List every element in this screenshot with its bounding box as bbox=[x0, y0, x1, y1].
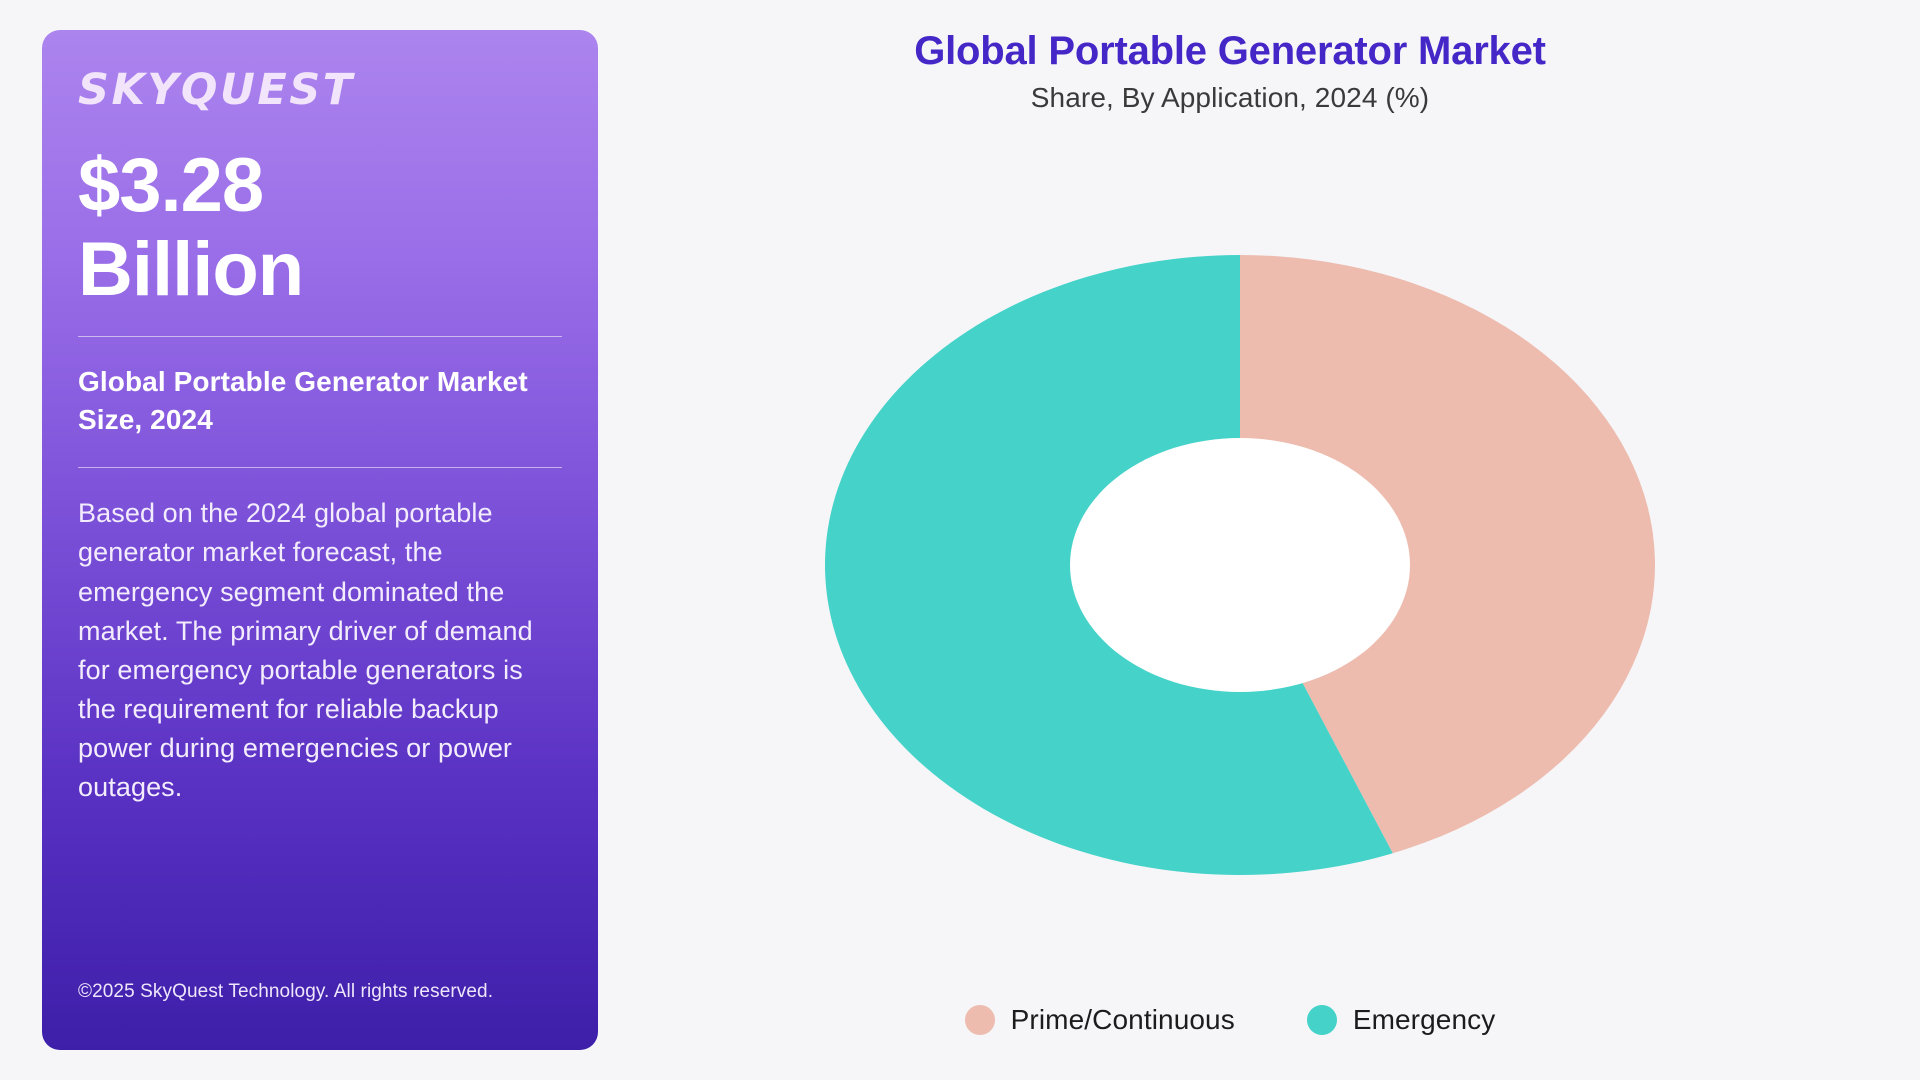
card-subtitle: Global Portable Generator Market Size, 2… bbox=[78, 363, 564, 439]
donut-chart bbox=[825, 255, 1655, 875]
copyright-notice: ©2025 SkyQuest Technology. All rights re… bbox=[78, 978, 498, 1006]
donut-chart-svg bbox=[825, 255, 1655, 875]
legend-item-emergency[interactable]: Emergency bbox=[1307, 1004, 1496, 1036]
chart-panel: Global Portable Generator Market Share, … bbox=[640, 0, 1920, 1080]
divider-bottom bbox=[78, 467, 562, 468]
legend-item-prime-continuous[interactable]: Prime/Continuous bbox=[965, 1004, 1235, 1036]
skyquest-logo: SKYQUEST bbox=[78, 68, 564, 113]
donut-center-hole bbox=[1070, 438, 1410, 692]
chart-subtitle: Share, By Application, 2024 (%) bbox=[640, 82, 1820, 114]
legend-swatch-emergency bbox=[1307, 1005, 1337, 1035]
card-description: Based on the 2024 global portable genera… bbox=[78, 494, 564, 807]
market-value-unit: Billion bbox=[78, 231, 564, 309]
chart-legend: Prime/Continuous Emergency bbox=[640, 1004, 1820, 1036]
legend-label-prime-continuous: Prime/Continuous bbox=[1011, 1004, 1235, 1036]
market-size-card: SKYQUEST $3.28 Billion Global Portable G… bbox=[42, 30, 598, 1050]
legend-swatch-prime-continuous bbox=[965, 1005, 995, 1035]
chart-title: Global Portable Generator Market bbox=[640, 28, 1820, 74]
legend-label-emergency: Emergency bbox=[1353, 1004, 1496, 1036]
divider-top bbox=[78, 336, 562, 337]
market-value: $3.28 bbox=[78, 147, 564, 225]
